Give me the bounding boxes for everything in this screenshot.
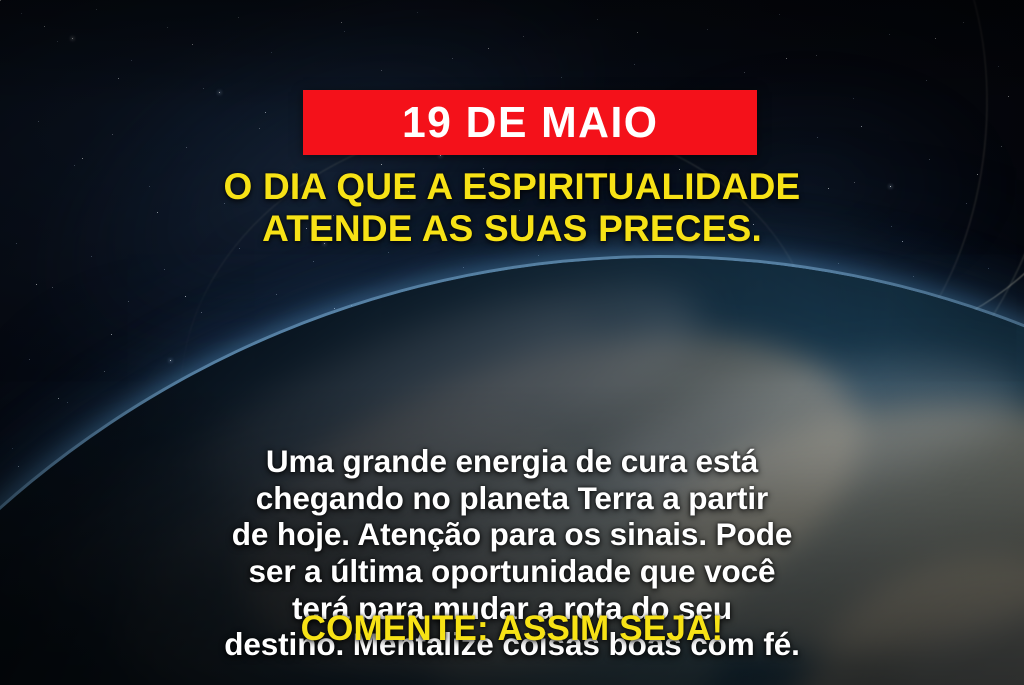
headline: O DIA QUE A ESPIRITUALIDADE ATENDE AS SU… xyxy=(0,166,1024,250)
poster-content: 19 DE MAIO O DIA QUE A ESPIRITUALIDADE A… xyxy=(0,0,1024,685)
date-banner-label: 19 DE MAIO xyxy=(402,101,658,145)
body-line-3: de hoje. Atenção para os sinais. Pode xyxy=(62,516,962,553)
headline-line-1: O DIA QUE A ESPIRITUALIDADE xyxy=(0,166,1024,208)
date-banner: 19 DE MAIO xyxy=(303,90,757,155)
headline-line-2: ATENDE AS SUAS PRECES. xyxy=(0,208,1024,250)
body-line-1: Uma grande energia de cura está xyxy=(62,443,962,480)
body-line-2: chegando no planeta Terra a partir xyxy=(62,480,962,517)
body-line-4: ser a última oportunidade que você xyxy=(62,553,962,590)
poster-image: 19 DE MAIO O DIA QUE A ESPIRITUALIDADE A… xyxy=(0,0,1024,685)
call-to-action: COMENTE: ASSIM SEJA! xyxy=(0,611,1024,646)
